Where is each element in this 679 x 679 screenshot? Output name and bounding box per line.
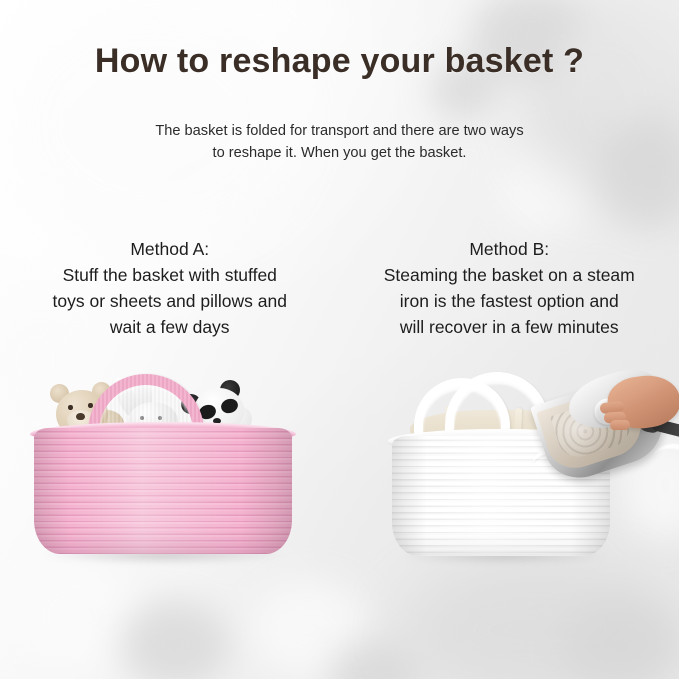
methods-container: Method A: Stuff the basket with stuffed … xyxy=(0,236,679,340)
method-b-description: Steaming the basket on a steam iron is t… xyxy=(352,263,668,340)
infographic-image: How to reshape your basket ? The basket … xyxy=(0,0,679,679)
method-a-heading: Method A: xyxy=(12,236,328,262)
finger-3 xyxy=(610,420,630,431)
page-title: How to reshape your basket ? xyxy=(0,42,679,81)
subtitle-line-2: to reshape it. When you get the basket. xyxy=(130,142,550,164)
steam-iron-icon xyxy=(534,368,679,490)
method-b-line-3: will recover in a few minutes xyxy=(352,315,668,341)
method-a-line-1: Stuff the basket with stuffed xyxy=(12,263,328,289)
subtitle-line-1: The basket is folded for transport and t… xyxy=(130,120,550,142)
teddy-eye-left xyxy=(68,405,73,410)
pink-rope-basket-photo xyxy=(22,366,312,566)
method-a-column: Method A: Stuff the basket with stuffed … xyxy=(0,236,340,340)
white-rope-basket-photo xyxy=(386,366,678,566)
method-a-line-3: wait a few days xyxy=(12,315,328,341)
teddy-eye-right xyxy=(88,403,93,408)
pink-basket-body xyxy=(34,428,292,554)
method-b-heading: Method B: xyxy=(352,236,668,262)
page-subtitle: The basket is folded for transport and t… xyxy=(130,120,550,164)
method-a-description: Stuff the basket with stuffed toys or sh… xyxy=(12,263,328,340)
method-b-line-1: Steaming the basket on a steam xyxy=(352,263,668,289)
method-b-column: Method B: Steaming the basket on a steam… xyxy=(340,236,679,340)
method-b-line-2: iron is the fastest option and xyxy=(352,289,668,315)
teddy-nose xyxy=(76,413,85,420)
method-a-line-2: toys or sheets and pillows and xyxy=(12,289,328,315)
